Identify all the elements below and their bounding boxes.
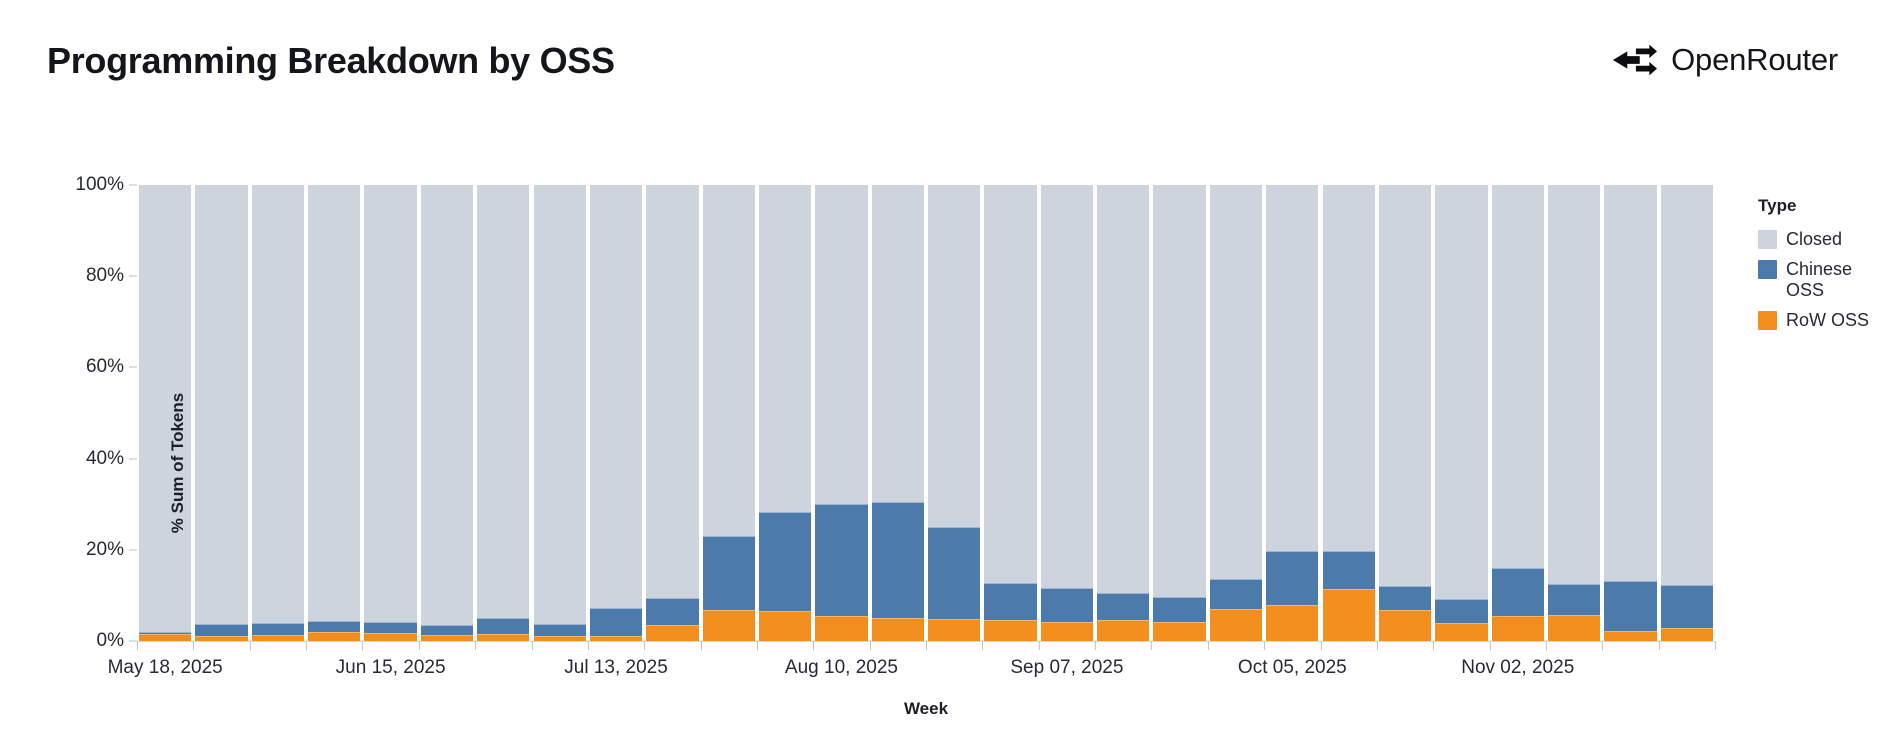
x-axis-tick-mark [1659,641,1660,650]
bar-segment [703,536,755,610]
bar-stack[interactable] [1435,185,1487,641]
x-axis-tick-label: Jul 13, 2025 [564,657,668,679]
bar-segment [1548,615,1600,641]
bar-stack[interactable] [364,185,416,641]
x-axis-tick-mark [419,641,420,650]
x-axis-tick-mark [1715,641,1716,650]
bar-stack[interactable] [195,185,247,641]
legend-items: ClosedChinese OSSRoW OSS [1758,229,1880,331]
bar-segment [1492,616,1544,641]
bar-segment [1548,185,1600,584]
x-axis-tick-mark [532,641,533,650]
bar-segment [703,610,755,641]
bar-segment [1210,609,1262,641]
legend-item[interactable]: Chinese OSS [1758,259,1880,301]
bar-segment [1604,581,1656,631]
x-axis-tick-mark [1321,641,1322,650]
bar-stack[interactable] [1323,185,1375,641]
bar-segment [646,185,698,598]
bar-segment [815,616,867,641]
bar-stack[interactable] [928,185,980,641]
bar-stack[interactable] [1379,185,1431,641]
legend-item-label: RoW OSS [1786,310,1869,331]
bar-stack[interactable] [477,185,529,641]
bar-stack[interactable] [815,185,867,641]
x-axis-tick-mark [362,641,363,650]
bar-stack[interactable] [421,185,473,641]
x-axis-tick-mark [1490,641,1491,650]
bar-segment [1153,597,1205,622]
bar-segment [1548,584,1600,616]
x-axis-tick-label: Sep 07, 2025 [1010,657,1123,679]
bar-segment [1210,579,1262,609]
bar-segment [308,185,360,621]
bar-segment [646,598,698,625]
x-axis-tick-mark [757,641,758,650]
x-axis-tick-mark [870,641,871,650]
bar-segment [477,618,529,634]
x-axis-tick-label: Jun 15, 2025 [336,657,446,679]
bar-segment [252,623,304,634]
x-axis-tick-mark [982,641,983,650]
bar-segment [1435,623,1487,641]
bar-segment [1323,589,1375,641]
x-axis-title: Week [137,699,1715,719]
bar-segment [1604,631,1656,641]
bar-stack[interactable] [646,185,698,641]
bar-segment [1041,588,1093,622]
x-axis-tick-mark [1546,641,1547,650]
x-axis-tick-mark [1264,641,1265,650]
legend-item[interactable]: Closed [1758,229,1880,250]
y-axis-tick-label: 20% [86,539,137,561]
bar-segment [1379,185,1431,586]
bar-segment [1661,628,1713,641]
bar-stack[interactable] [308,185,360,641]
legend-item[interactable]: RoW OSS [1758,310,1880,331]
x-axis-tick-mark [701,641,702,650]
x-axis-tick-label: Oct 05, 2025 [1238,657,1347,679]
bar-segment [252,185,304,623]
bar-segment [1041,622,1093,641]
bar-segment [759,512,811,611]
bar-segment [984,185,1036,583]
y-axis-title: % Sum of Tokens [168,318,188,608]
bar-segment [364,185,416,622]
bar-segment [872,185,924,502]
bar-segment [1435,599,1487,623]
x-axis-tick-mark [1208,641,1209,650]
bar-stack[interactable] [252,185,304,641]
legend-item-label: Chinese OSS [1786,259,1880,301]
legend-swatch-icon [1758,311,1777,330]
bar-segment [928,527,980,619]
bar-segment [1492,185,1544,568]
bar-stack[interactable] [1153,185,1205,641]
bar-stack[interactable] [1266,185,1318,641]
x-axis-tick-mark [813,641,814,650]
x-axis-tick-mark [1377,641,1378,650]
x-axis-tick-mark [1095,641,1096,650]
bar-segment [872,618,924,641]
bar-segment [1266,185,1318,551]
x-axis-tick-mark [644,641,645,650]
bar-segment [477,185,529,618]
x-axis-tick-mark [1433,641,1434,650]
bar-segment [195,624,247,636]
bar-stack[interactable] [1492,185,1544,641]
y-axis-tick-label: 0% [97,630,137,652]
bar-stack[interactable] [1041,185,1093,641]
bar-segment [534,185,586,624]
bar-segment [759,185,811,512]
bar-segment [815,185,867,504]
bar-segment [1153,622,1205,641]
x-axis-tick-mark [588,641,589,650]
x-axis-tick-mark [193,641,194,650]
bar-segment [1379,586,1431,610]
bar-segment [984,620,1036,641]
bar-segment [1661,585,1713,628]
bar-segment [1661,185,1713,585]
y-axis-tick-label: 100% [75,174,137,196]
legend: Type ClosedChinese OSSRoW OSS [1758,196,1880,340]
bar-stack[interactable] [1548,185,1600,641]
x-axis-tick-mark [306,641,307,650]
x-axis-tick-mark [1039,641,1040,650]
bar-segment [1041,185,1093,588]
bar-stack[interactable] [1661,185,1713,641]
bar-segment [759,611,811,641]
bar-segment [1097,620,1149,641]
bar-segment [646,625,698,641]
bar-segment [477,634,529,641]
bar-stack[interactable] [590,185,642,641]
x-axis-tick-mark [250,641,251,650]
bar-segment [1323,185,1375,551]
bar-stack[interactable] [759,185,811,641]
x-axis-tick-label: Aug 10, 2025 [785,657,898,679]
bar-segment [534,624,586,637]
bar-segment [195,185,247,624]
bar-segment [1604,185,1656,581]
plot-inner [137,185,1715,641]
bar-segment [308,632,360,641]
bar-segment [590,185,642,608]
y-axis-tick-label: 40% [86,448,137,470]
bar-segment [139,632,191,634]
bar-segment [1266,551,1318,606]
legend-title: Type [1758,196,1880,216]
bar-segment [1097,593,1149,620]
bar-segment [1153,185,1205,597]
bar-segment [928,185,980,527]
bar-stack[interactable] [872,185,924,641]
y-axis-tick-label: 60% [86,356,137,378]
bar-segment [421,625,473,635]
bar-segment [364,633,416,641]
x-axis-tick-mark [1151,641,1152,650]
legend-swatch-icon [1758,260,1777,279]
x-axis-tick-label: Nov 02, 2025 [1461,657,1574,679]
bar-segment [139,634,191,641]
bar-segment [1492,568,1544,616]
bar-segment [308,621,360,632]
bar-segment [928,619,980,641]
x-axis-tick-mark [475,641,476,650]
chart-canvas: % Sum of Tokens Week 0%20%40%60%80%100%M… [0,0,1880,734]
bar-stack[interactable] [984,185,1036,641]
bar-stack[interactable] [1604,185,1656,641]
x-axis-tick-label: May 18, 2025 [108,657,223,679]
bar-segment [1266,605,1318,641]
legend-swatch-icon [1758,230,1777,249]
legend-item-label: Closed [1786,229,1842,250]
bar-segment [703,185,755,536]
bar-segment [872,502,924,618]
plot-area: % Sum of Tokens Week 0%20%40%60%80%100%M… [137,185,1715,641]
x-axis-tick-mark [137,641,138,650]
x-axis-tick-mark [926,641,927,650]
bar-segment [421,185,473,625]
bar-segment [1210,185,1262,579]
x-axis-tick-mark [1602,641,1603,650]
bar-segment [1323,551,1375,589]
bar-segment [1379,610,1431,641]
bar-segment [364,622,416,633]
bar-segment [1435,185,1487,599]
bar-segment [1097,185,1149,593]
bar-segment [984,583,1036,621]
bar-segment [590,608,642,635]
bar-stack[interactable] [703,185,755,641]
bar-stack[interactable] [1097,185,1149,641]
bar-segment [815,504,867,616]
bar-stack[interactable] [1210,185,1262,641]
bar-stack[interactable] [534,185,586,641]
y-axis-tick-label: 80% [86,265,137,287]
